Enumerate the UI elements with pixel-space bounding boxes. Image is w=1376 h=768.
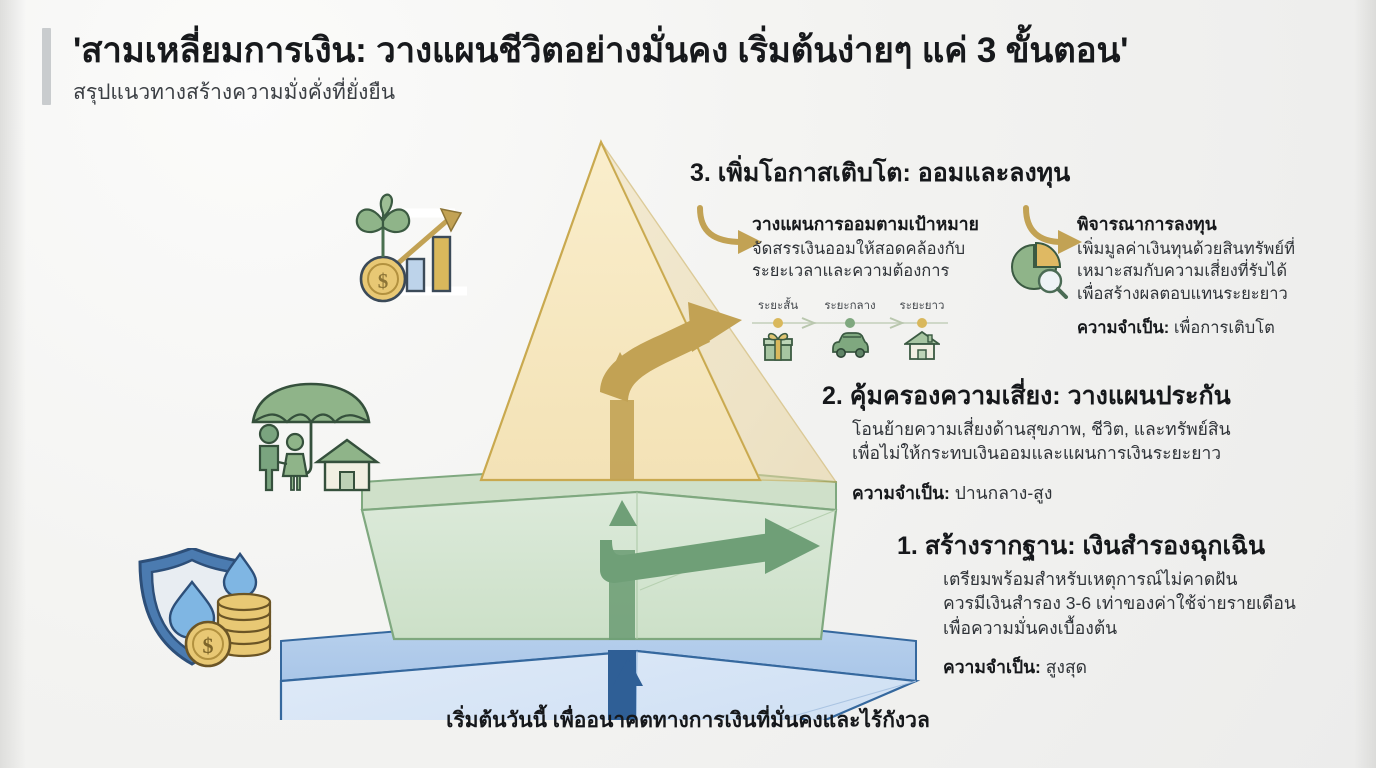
- timeline-label-short: ระยะสั้น: [744, 297, 812, 315]
- infographic-canvas: 'สามเหลี่ยมการเงิน: วางแผนชีวิตอย่างมั่น…: [0, 0, 1376, 768]
- tier-2-body: โอนย้ายความเสี่ยงด้านสุขภาพ, ชีวิต, และท…: [852, 417, 1231, 465]
- tier-2-need: ความจำเป็น: ปานกลาง-สูง: [852, 479, 1231, 507]
- tier-3-text-block: 3. เพิ่มโอกาสเติบโต: ออมและลงทุน: [690, 158, 1070, 189]
- saving-timeline: ระยะสั้น ระยะกลาง ระยะยาว: [744, 297, 956, 359]
- house-icon: [888, 329, 956, 363]
- sub-investing-title: พิจารณาการลงทุน: [1077, 213, 1327, 236]
- sub-investing-card: พิจารณาการลงทุน เพิ่มมูลค่าเงินทุนด้วยสิ…: [1077, 213, 1327, 341]
- umbrella-family-house-icon: [243, 382, 383, 499]
- tier-1-body: เตรียมพร้อมสำหรับเหตุการณ์ไม่คาดฝัน ควรม…: [943, 567, 1296, 639]
- page-title: 'สามเหลี่ยมการเงิน: วางแผนชีวิตอย่างมั่น…: [73, 30, 1128, 71]
- car-icon: [816, 329, 884, 363]
- connector-arrow-saving: [700, 208, 742, 242]
- svg-text:$: $: [378, 269, 389, 293]
- page-subtitle: สรุปแนวทางสร้างความมั่งคั่งที่ยั่งยืน: [73, 80, 1128, 105]
- timeline-track: [744, 316, 956, 328]
- shield-water-coins-icon: $: [128, 548, 278, 673]
- svg-text:$: $: [203, 633, 214, 658]
- footer-callout: เริ่มต้นวันนี้ เพื่ออนาคตทางการเงินที่มั…: [0, 704, 1376, 737]
- timeline-label-mid: ระยะกลาง: [816, 297, 884, 315]
- sub-investing-need: ความจำเป็น: เพื่อการเติบโต: [1077, 315, 1327, 341]
- plant-coin-growth-chart-icon: $: [345, 193, 477, 316]
- tier-1-need: ความจำเป็น: สูงสุด: [943, 653, 1296, 681]
- pie-chart-magnifier-icon: [1008, 237, 1070, 304]
- sub-investing-body: เพิ่มมูลค่าเงินทุนด้วยสินทรัพย์ที่ เหมาะ…: [1077, 238, 1327, 305]
- tier-2-text-block: 2. คุ้มครองความเสี่ยง: วางแผนประกัน โอนย…: [822, 381, 1231, 507]
- title-accent-bar: [42, 28, 51, 105]
- tier-1-text-block: 1. สร้างรากฐาน: เงินสำรองฉุกเฉิน เตรียมพ…: [897, 531, 1296, 681]
- gift-icon: [744, 329, 812, 363]
- header: 'สามเหลี่ยมการเงิน: วางแผนชีวิตอย่างมั่น…: [42, 28, 1128, 105]
- tier-3-heading: 3. เพิ่มโอกาสเติบโต: ออมและลงทุน: [690, 158, 1070, 189]
- sub-saving-body: จัดสรรเงินออมให้สอดคล้องกับ ระยะเวลาและค…: [752, 238, 1002, 283]
- tier-1-heading: 1. สร้างรากฐาน: เงินสำรองฉุกเฉิน: [897, 531, 1296, 562]
- tier-2-heading: 2. คุ้มครองความเสี่ยง: วางแผนประกัน: [822, 381, 1231, 412]
- timeline-label-long: ระยะยาว: [888, 297, 956, 315]
- sub-saving-title: วางแผนการออมตามเป้าหมาย: [752, 213, 1002, 236]
- sub-saving-card: วางแผนการออมตามเป้าหมาย จัดสรรเงินออมให้…: [752, 213, 1002, 283]
